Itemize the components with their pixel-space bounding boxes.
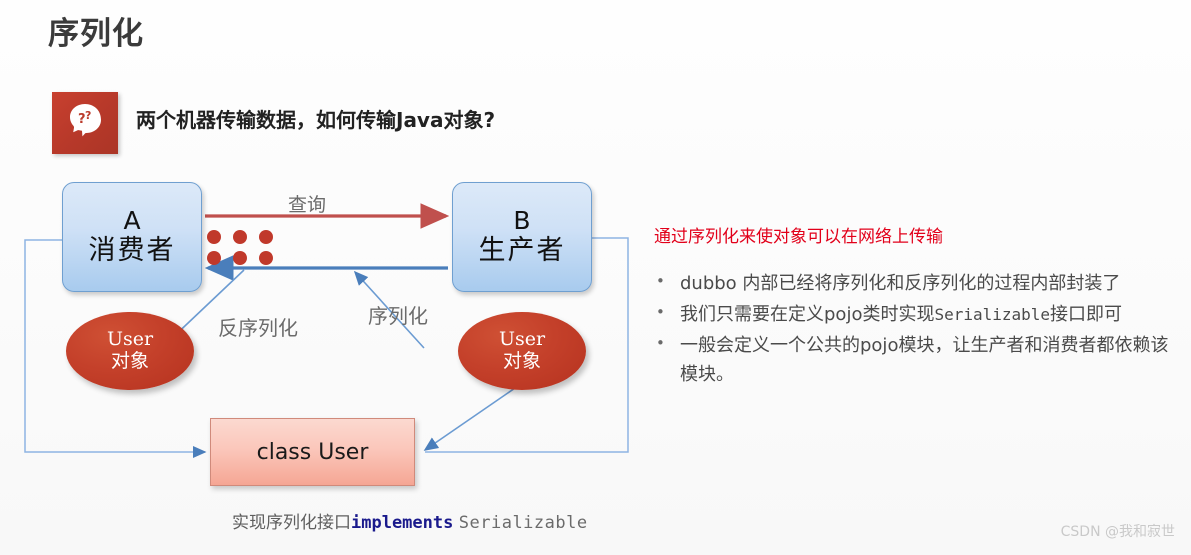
caption-keyword-implements: implements <box>351 513 453 533</box>
bullet-text-post: 接口即可 <box>1050 304 1122 325</box>
list-item: 我们只需要在定义pojo类时实现Serializable接口即可 <box>654 300 1184 329</box>
list-item: dubbo 内部已经将序列化和反序列化的过程内部封装了 <box>654 269 1184 298</box>
bullet-text-mono: Serializable <box>934 305 1050 324</box>
caption-prefix: 实现序列化接口 <box>232 513 351 533</box>
node-producer-label-2: 生产者 <box>479 235 566 266</box>
slide-canvas: 序列化 ? ? 两个机器传输数据，如何传输Java对象? <box>0 0 1191 555</box>
csdn-watermark: CSDN @我和寂世 <box>1061 521 1175 541</box>
bullet-text-pre: 我们只需要在定义pojo类时实现 <box>680 304 934 325</box>
bullet-text-pre: 一般会定义一个公共的pojo模块，让生产者和消费者都依赖该模块。 <box>680 335 1168 385</box>
bullet-list: dubbo 内部已经将序列化和反序列化的过程内部封装了 我们只需要在定义pojo… <box>654 269 1184 390</box>
edge-label-query: 查询 <box>288 190 326 217</box>
data-packet-dots <box>207 230 273 265</box>
node-consumer-label-2: 消费者 <box>89 235 176 266</box>
node-user-object-right[interactable]: User 对象 <box>458 312 586 390</box>
edge-label-deserialize: 反序列化 <box>218 312 298 341</box>
node-producer-label-1: B <box>513 208 530 234</box>
node-user-object-right-label-2: 对象 <box>503 350 541 373</box>
node-producer[interactable]: B 生产者 <box>452 182 592 292</box>
svg-text:?: ? <box>85 109 91 122</box>
node-user-object-left[interactable]: User 对象 <box>66 312 194 390</box>
thinking-head-question-icon: ? ? <box>52 92 118 154</box>
edge-label-serialize: 序列化 <box>368 300 428 329</box>
node-consumer-label-1: A <box>123 208 140 234</box>
bullet-text-pre: dubbo 内部已经将序列化和反序列化的过程内部封装了 <box>680 273 1120 294</box>
serialization-diagram: A 消费者 B 生产者 User 对象 User 对象 class User 查… <box>0 160 680 555</box>
node-user-object-left-label-1: User <box>107 329 153 350</box>
caption-interface-serializable: Serializable <box>459 513 588 533</box>
question-headline: 两个机器传输数据，如何传输Java对象? <box>136 104 495 133</box>
node-class-user-label: class User <box>257 440 369 465</box>
list-item: 一般会定义一个公共的pojo模块，让生产者和消费者都依赖该模块。 <box>654 331 1184 389</box>
node-user-object-right-label-1: User <box>499 329 545 350</box>
serializable-caption: 实现序列化接口implements Serializable <box>232 508 588 533</box>
node-consumer[interactable]: A 消费者 <box>62 182 202 292</box>
node-user-object-left-label-2: 对象 <box>111 350 149 373</box>
panel-headline: 通过序列化来使对象可以在网络上传输 <box>654 222 1184 247</box>
node-class-user[interactable]: class User <box>210 418 415 486</box>
explanation-panel: 通过序列化来使对象可以在网络上传输 dubbo 内部已经将序列化和反序列化的过程… <box>654 222 1184 392</box>
page-title: 序列化 <box>48 8 144 53</box>
